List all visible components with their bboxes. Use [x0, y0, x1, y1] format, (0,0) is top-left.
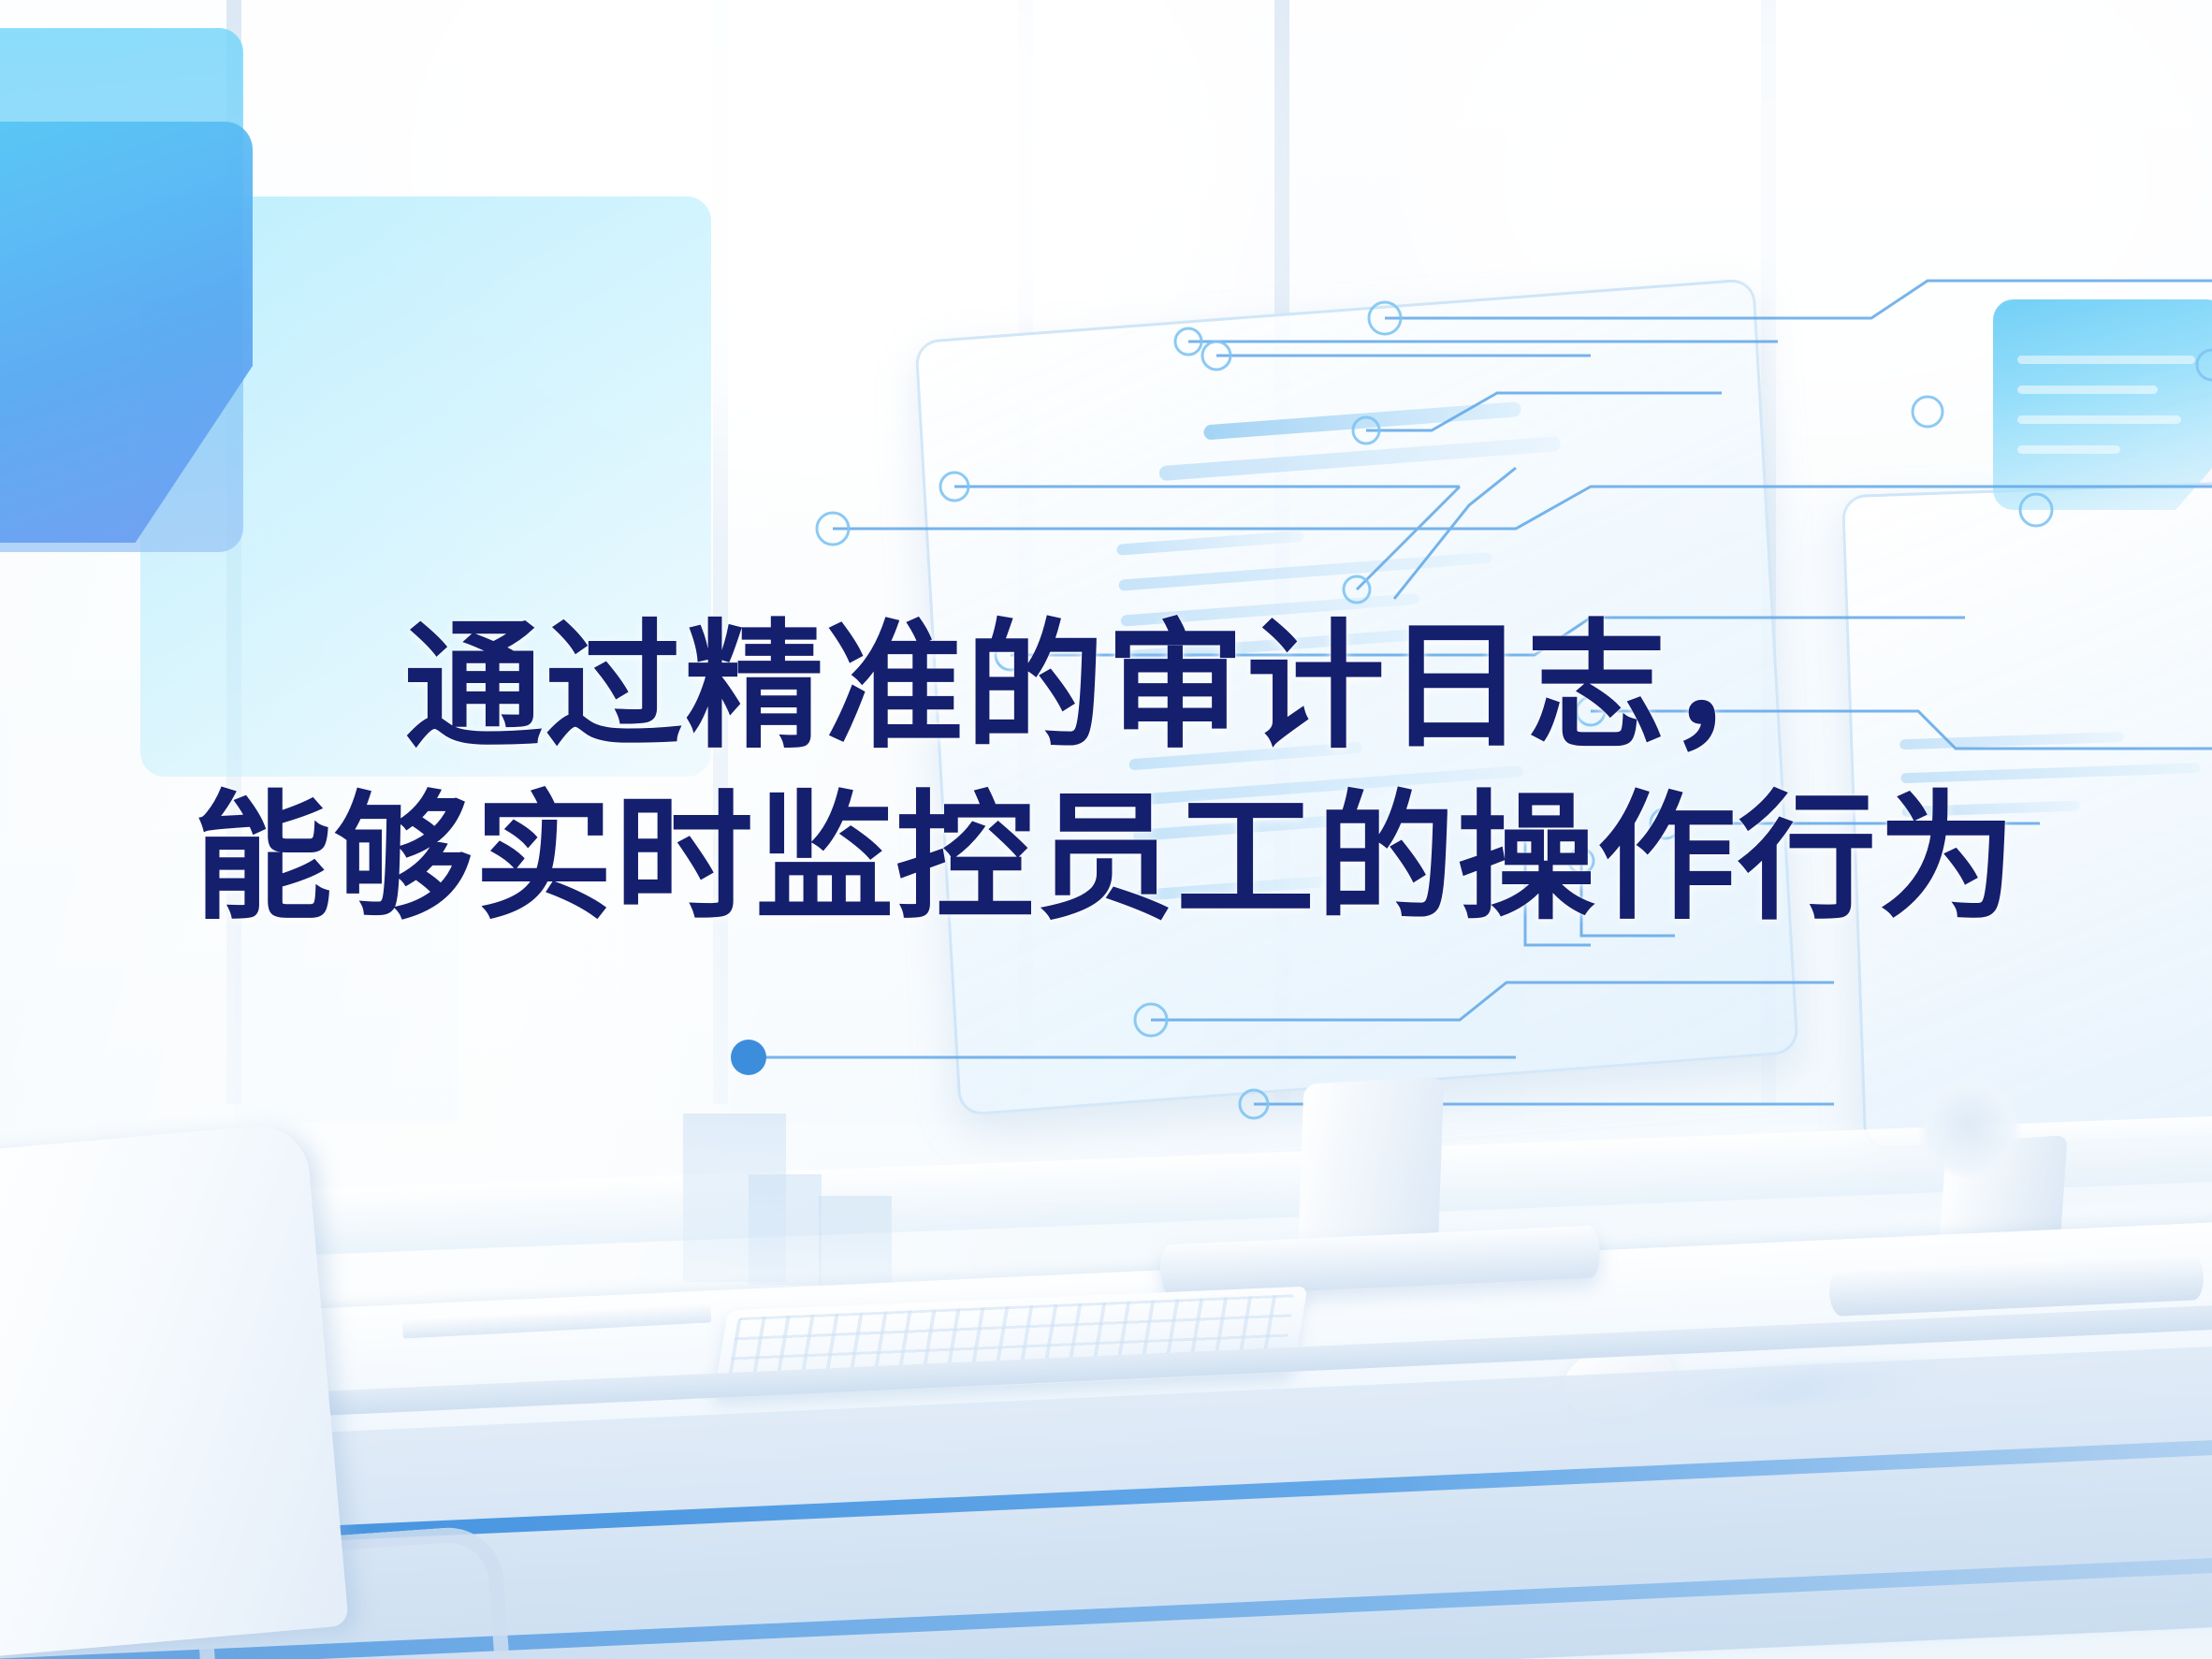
office-chair	[0, 1122, 349, 1657]
speaker-icon	[1918, 1076, 2021, 1179]
slide-canvas: 通过精准的审计日志， 能够实时监控员工的操作行为	[0, 0, 2212, 1659]
bar-chart-block	[819, 1196, 892, 1286]
bar-chart-block	[749, 1174, 822, 1285]
circuit-node-filled	[731, 1040, 766, 1075]
